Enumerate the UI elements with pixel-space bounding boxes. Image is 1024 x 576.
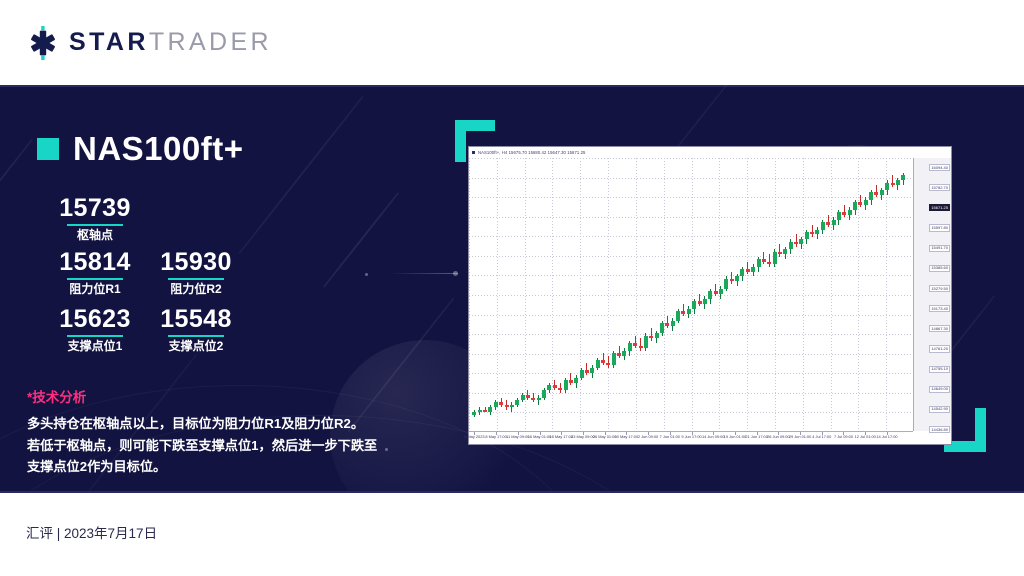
candle-wick	[812, 225, 813, 237]
candle-body	[569, 380, 573, 382]
time-tick-mark	[626, 432, 627, 435]
candlestick	[773, 158, 778, 431]
candle-wick	[511, 402, 512, 412]
candlestick	[622, 158, 627, 431]
candle-body	[542, 390, 546, 397]
candlestick	[708, 158, 713, 431]
brand-logo[interactable]: STARTRADER	[26, 26, 272, 60]
candle-wick	[876, 185, 877, 197]
candlestick	[740, 158, 745, 431]
price-tick: 15491.70	[929, 245, 950, 252]
time-tick-mark	[822, 432, 823, 435]
candlestick	[837, 158, 842, 431]
time-tick: 11 May 09:00	[506, 435, 529, 439]
candlestick	[864, 158, 869, 431]
candlestick	[874, 158, 879, 431]
candle-body	[612, 353, 616, 365]
candle-body	[778, 252, 782, 254]
candlestick	[526, 158, 531, 431]
candle-body	[622, 351, 626, 356]
price-tick: 15279.50	[929, 285, 950, 292]
candlestick	[869, 158, 874, 431]
price-tick: 14649.00	[929, 386, 950, 393]
candlestick	[606, 158, 611, 431]
candle-body	[735, 276, 739, 281]
candlestick	[585, 158, 590, 431]
price-tick-current: 15671.25	[929, 204, 950, 211]
time-tick: 2 Jun 09:00	[638, 435, 658, 439]
candlestick	[542, 158, 547, 431]
candle-body	[639, 346, 643, 348]
candle-body	[714, 291, 718, 293]
candlestick	[639, 158, 644, 431]
time-tick: 14 Jun 09:00	[702, 435, 725, 439]
time-tick-mark	[561, 432, 562, 435]
stat-underline	[67, 278, 123, 280]
stat-underline	[168, 278, 224, 280]
candlestick	[564, 158, 569, 431]
candle-wick	[715, 284, 716, 296]
candle-body	[510, 405, 514, 407]
candlestick	[590, 158, 595, 431]
candle-wick	[892, 175, 893, 187]
candlestick	[547, 158, 552, 431]
candle-body	[837, 212, 841, 219]
candlestick	[692, 158, 697, 431]
candle-body	[649, 336, 653, 338]
candle-wick	[731, 272, 732, 284]
candle-body	[585, 370, 589, 372]
candle-wick	[763, 252, 764, 264]
candle-body	[676, 311, 680, 321]
time-tick-mark	[474, 432, 475, 435]
candle-body	[724, 279, 728, 289]
candle-body	[901, 175, 905, 180]
page-title: NAS100ft+	[73, 132, 243, 165]
candle-body	[757, 259, 761, 266]
candlestick	[724, 158, 729, 431]
time-tick-mark	[583, 432, 584, 435]
candlestick	[719, 158, 724, 431]
candle-body	[488, 407, 492, 412]
candlestick	[483, 158, 488, 431]
candle-body	[874, 192, 878, 194]
candle-body	[708, 291, 712, 298]
candle-body	[767, 262, 771, 264]
chart-title: NAS100ft+, H4 15675.70 15680.42 15647.30…	[478, 150, 585, 155]
candlestick	[617, 158, 622, 431]
brand-wordmark: STARTRADER	[69, 30, 272, 55]
time-axis[interactable]: 4 May 20238 May 17:0011 May 09:0016 May …	[469, 431, 913, 444]
candle-body	[880, 190, 884, 195]
candlestick	[580, 158, 585, 431]
candlestick	[510, 158, 515, 431]
candle-body	[815, 230, 819, 235]
stat-pivot-label: 枢轴点	[33, 229, 157, 242]
candle-wick	[538, 395, 539, 405]
time-tick: 26 May 01:00	[593, 435, 617, 439]
candlestick	[687, 158, 692, 431]
candlestick	[794, 158, 799, 431]
candle-body	[789, 242, 793, 249]
candle-wick	[635, 336, 636, 348]
candle-body	[553, 385, 557, 387]
candle-body	[547, 385, 551, 390]
time-tick: 4 May 2023	[464, 435, 484, 439]
time-tick-mark	[887, 432, 888, 435]
candle-body	[574, 378, 578, 383]
candlestick	[703, 158, 708, 431]
candlestick	[896, 158, 901, 431]
time-tick: 30 May 17:00	[615, 435, 639, 439]
candle-body	[558, 388, 562, 390]
title-bullet-square	[37, 138, 59, 160]
candlestick	[665, 158, 670, 431]
stat-underline	[67, 224, 123, 226]
time-tick: 18 May 17:00	[549, 435, 573, 439]
candlestick	[730, 158, 735, 431]
candle-body	[526, 395, 530, 397]
candle-body	[719, 289, 723, 294]
candle-body	[842, 212, 846, 214]
time-tick-mark	[518, 432, 519, 435]
main-panel: NAS100ft+ 15739 枢轴点 15814 阻力位R1 15930 阻力…	[0, 85, 1024, 491]
candle-wick	[667, 316, 668, 328]
candle-wick	[769, 254, 770, 266]
time-tick-mark	[843, 432, 844, 435]
candle-body	[794, 242, 798, 244]
candlestick	[853, 158, 858, 431]
analysis-body: 多头持仓在枢轴点以上，目标位为阻力位R1及阻力位R2。 若低于枢轴点，则可能下跌…	[27, 413, 407, 477]
technical-analysis-block: *技术分析 多头持仓在枢轴点以上，目标位为阻力位R1及阻力位R2。 若低于枢轴点…	[27, 390, 407, 477]
candlestick	[612, 158, 617, 431]
candle-wick	[651, 328, 652, 340]
candle-wick	[828, 215, 829, 227]
time-tick-mark	[648, 432, 649, 435]
stat-resistance2-value: 15930	[134, 249, 258, 275]
candle-wick	[619, 346, 620, 358]
candle-body	[499, 402, 503, 404]
candlestick	[596, 158, 601, 431]
brand-name-bold: STAR	[69, 28, 149, 56]
candlestick	[676, 158, 681, 431]
candlestick	[601, 158, 606, 431]
candle-wick	[796, 234, 797, 246]
candlestick	[810, 158, 815, 431]
candlestick	[826, 158, 831, 431]
instrument-title-row: NAS100ft+	[37, 132, 243, 165]
analysis-line-3: 支撑点位2作为目标位。	[27, 456, 407, 477]
stat-underline	[168, 335, 224, 337]
candlestick	[885, 158, 890, 431]
time-tick: 7 Jul 09:00	[834, 435, 853, 439]
time-tick-mark	[540, 432, 541, 435]
candle-body	[698, 301, 702, 303]
star-asterisk-icon	[26, 26, 60, 60]
candlestick	[505, 158, 510, 431]
candle-body	[564, 380, 568, 390]
candlestick	[553, 158, 558, 431]
candlestick	[472, 158, 477, 431]
candle-body	[606, 363, 610, 365]
price-tick: 16094.40	[929, 164, 950, 171]
time-tick: 12 Jul 01:00	[855, 435, 876, 439]
analysis-title: *技术分析	[27, 390, 407, 406]
candlestick	[848, 158, 853, 431]
candle-body	[896, 180, 900, 185]
candlestick	[746, 158, 751, 431]
candlestick	[767, 158, 772, 431]
time-tick: 19 Jun 01:00	[724, 435, 747, 439]
candlestick	[499, 158, 504, 431]
time-tick: 9 Jun 17:00	[681, 435, 701, 439]
candlestick-series	[469, 158, 913, 431]
candle-body	[660, 323, 664, 333]
candlestick	[762, 158, 767, 431]
candle-body	[655, 333, 659, 338]
candlestick	[644, 158, 649, 431]
candle-body	[762, 259, 766, 261]
candle-body	[730, 279, 734, 281]
candle-body	[580, 370, 584, 377]
candle-body	[596, 360, 600, 367]
candle-body	[740, 269, 744, 276]
time-tick-mark	[778, 432, 779, 435]
stat-pivot-value: 15739	[33, 195, 157, 221]
price-tick: 15597.80	[929, 224, 950, 231]
price-tick: 14436.80	[929, 426, 950, 433]
candle-body	[885, 183, 889, 190]
candle-body	[671, 321, 675, 326]
time-tick: 8 May 17:00	[485, 435, 506, 439]
time-tick: 7 Jun 01:00	[660, 435, 680, 439]
time-tick-mark	[800, 432, 801, 435]
footer-top-divider	[0, 491, 1024, 493]
time-tick: 23 May 09:00	[571, 435, 595, 439]
candle-wick	[586, 363, 587, 375]
time-tick: 21 Jun 17:00	[745, 435, 768, 439]
candlestick	[494, 158, 499, 431]
time-tick-mark	[713, 432, 714, 435]
candle-body	[848, 210, 852, 215]
price-tick: 15173.40	[929, 305, 950, 312]
candle-wick	[779, 244, 780, 256]
candlestick	[799, 158, 804, 431]
candle-body	[665, 323, 669, 325]
candle-body	[472, 412, 476, 414]
candlestick	[751, 158, 756, 431]
time-tick: 16 May 01:00	[528, 435, 552, 439]
analysis-line-2: 若低于枢轴点，则可能下跌至支撑点位1，然后进一步下跌至	[27, 435, 407, 456]
candle-body	[521, 395, 525, 400]
candlestick	[633, 158, 638, 431]
price-chart[interactable]: NAS100ft+, H4 15675.70 15680.42 15647.30…	[468, 146, 952, 445]
candle-body	[681, 311, 685, 313]
candle-wick	[640, 338, 641, 350]
stat-support2-label: 支撑点位2	[134, 340, 258, 353]
candlestick	[757, 158, 762, 431]
stat-pivot: 15739 枢轴点	[33, 195, 157, 242]
candle-body	[531, 398, 535, 400]
candlestick	[783, 158, 788, 431]
chart-header: NAS100ft+, H4 15675.70 15680.42 15647.30…	[469, 147, 951, 158]
chart-symbol-icon	[472, 151, 475, 154]
brand-name-light: TRADER	[149, 28, 272, 56]
candle-wick	[747, 262, 748, 274]
candle-body	[515, 400, 519, 405]
price-tick: 15782.70	[929, 184, 950, 191]
candle-wick	[699, 294, 700, 306]
candlestick	[478, 158, 483, 431]
candlestick	[858, 158, 863, 431]
candle-body	[478, 410, 482, 412]
candle-body	[537, 398, 541, 400]
candle-wick	[860, 195, 861, 207]
candlestick	[891, 158, 896, 431]
candlestick	[660, 158, 665, 431]
candlestick	[880, 158, 885, 431]
candlestick	[681, 158, 686, 431]
candle-body	[617, 353, 621, 355]
page-header: STARTRADER	[0, 0, 1024, 85]
stat-resistance2-label: 阻力位R2	[134, 283, 258, 296]
candle-body	[773, 252, 777, 264]
candle-wick	[608, 356, 609, 368]
candle-body	[826, 222, 830, 224]
chart-plot-area[interactable]	[469, 158, 913, 431]
analysis-line-1: 多头持仓在枢轴点以上，目标位为阻力位R1及阻力位R2。	[27, 413, 407, 434]
candlestick	[805, 158, 810, 431]
candlestick	[714, 158, 719, 431]
candle-body	[832, 220, 836, 225]
candlestick	[515, 158, 520, 431]
candle-wick	[570, 373, 571, 385]
price-tick: 14755.10	[929, 366, 950, 373]
candle-body	[869, 192, 873, 199]
candlestick	[789, 158, 794, 431]
candle-body	[891, 183, 895, 185]
time-tick-mark	[757, 432, 758, 435]
candle-body	[633, 343, 637, 345]
candle-body	[853, 202, 857, 209]
candle-body	[858, 202, 862, 204]
stat-support2: 15548 支撑点位2	[134, 306, 258, 353]
star-dot	[453, 271, 458, 276]
candle-body	[687, 309, 691, 314]
price-axis[interactable]: 16094.4015782.7015671.2515597.8015491.70…	[913, 158, 951, 431]
candlestick	[735, 158, 740, 431]
candle-body	[751, 267, 755, 272]
time-tick-mark	[496, 432, 497, 435]
candlestick	[531, 158, 536, 431]
time-tick-mark	[670, 432, 671, 435]
candle-wick	[844, 205, 845, 217]
candlestick	[821, 158, 826, 431]
left-content: NAS100ft+ 15739 枢轴点 15814 阻力位R1 15930 阻力…	[0, 85, 440, 491]
candlestick	[698, 158, 703, 431]
candle-body	[703, 299, 707, 304]
page-footer: 汇评 | 2023年7月17日	[0, 491, 1024, 576]
candle-body	[590, 368, 594, 373]
price-tick: 15385.60	[929, 265, 950, 272]
candle-body	[821, 222, 825, 229]
candlestick	[488, 158, 493, 431]
footer-text: 汇评 | 2023年7月17日	[26, 527, 157, 541]
candlestick	[537, 158, 542, 431]
candlestick	[569, 158, 574, 431]
candle-body	[810, 232, 814, 234]
candle-body	[628, 343, 632, 350]
candle-body	[644, 336, 648, 348]
time-tick-mark	[865, 432, 866, 435]
time-tick: 26 Jun 09:00	[767, 435, 790, 439]
candlestick	[655, 158, 660, 431]
candlestick	[815, 158, 820, 431]
candle-body	[505, 405, 509, 407]
time-tick: 4 Jul 17:00	[812, 435, 831, 439]
candlestick	[901, 158, 906, 431]
candlestick	[558, 158, 563, 431]
candlestick	[671, 158, 676, 431]
price-tick: 14761.20	[929, 345, 950, 352]
time-tick-mark	[735, 432, 736, 435]
stat-resistance2: 15930 阻力位R2	[134, 249, 258, 296]
candle-body	[805, 232, 809, 239]
candle-body	[494, 402, 498, 407]
candle-body	[864, 200, 868, 205]
time-tick-mark	[692, 432, 693, 435]
candlestick	[628, 158, 633, 431]
candle-body	[746, 269, 750, 271]
candle-body	[483, 410, 487, 412]
candlestick	[649, 158, 654, 431]
price-tick: 14542.90	[929, 406, 950, 413]
price-tick: 14867.30	[929, 325, 950, 332]
time-tick: 29 Jun 01:00	[789, 435, 812, 439]
candlestick	[778, 158, 783, 431]
stat-underline	[67, 335, 123, 337]
candlestick	[521, 158, 526, 431]
candle-wick	[683, 304, 684, 316]
candle-body	[799, 239, 803, 244]
candle-body	[692, 301, 696, 308]
candlestick	[842, 158, 847, 431]
stat-support2-value: 15548	[134, 306, 258, 332]
candle-body	[601, 360, 605, 362]
candlestick	[832, 158, 837, 431]
time-tick: 14 Jul 17:00	[876, 435, 897, 439]
candle-body	[783, 249, 787, 254]
time-tick-mark	[605, 432, 606, 435]
candle-wick	[603, 353, 604, 365]
candlestick	[574, 158, 579, 431]
